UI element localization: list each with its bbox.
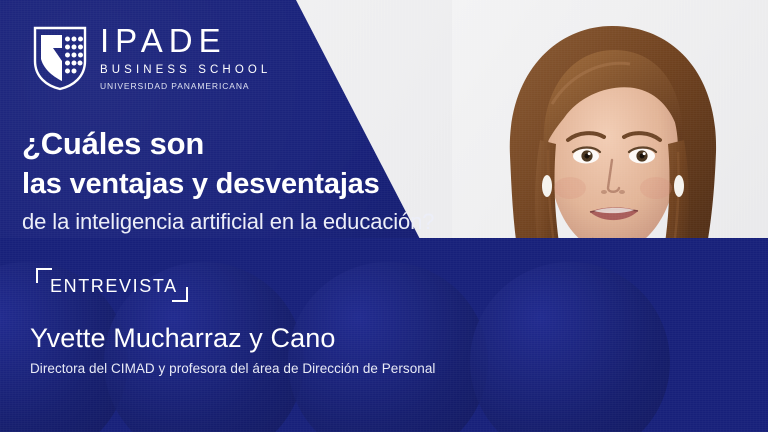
- logo-wordmark-block: IPADE BUSINESS SCHOOL UNIVERSIDAD PANAME…: [100, 24, 271, 91]
- speaker-block: Yvette Mucharraz y Cano Directora del CI…: [30, 322, 490, 376]
- logo-wordmark: IPADE: [100, 24, 271, 57]
- video-thumbnail-card: IPADE BUSINESS SCHOOL UNIVERSIDAD PANAME…: [0, 0, 768, 432]
- headline-line-2: las ventajas y desventajas: [22, 167, 472, 202]
- headline-line-3: de la inteligencia artificial en la educ…: [22, 209, 472, 236]
- speaker-role: Directora del CIMAD y profesora del área…: [30, 361, 490, 376]
- ipade-shield-icon: [32, 25, 88, 91]
- logo-subtitle-1: BUSINESS SCHOOL: [100, 64, 271, 76]
- headline-block: ¿Cuáles son las ventajas y desventajas d…: [22, 126, 472, 236]
- entrevista-badge: ENTREVISTA: [36, 268, 188, 302]
- ipade-logo[interactable]: IPADE BUSINESS SCHOOL UNIVERSIDAD PANAME…: [32, 24, 271, 91]
- headline-line-1: ¿Cuáles son: [22, 126, 472, 163]
- speaker-name: Yvette Mucharraz y Cano: [30, 322, 490, 354]
- logo-subtitle-2: UNIVERSIDAD PANAMERICANA: [100, 81, 271, 91]
- entrevista-badge-label: ENTREVISTA: [50, 276, 178, 297]
